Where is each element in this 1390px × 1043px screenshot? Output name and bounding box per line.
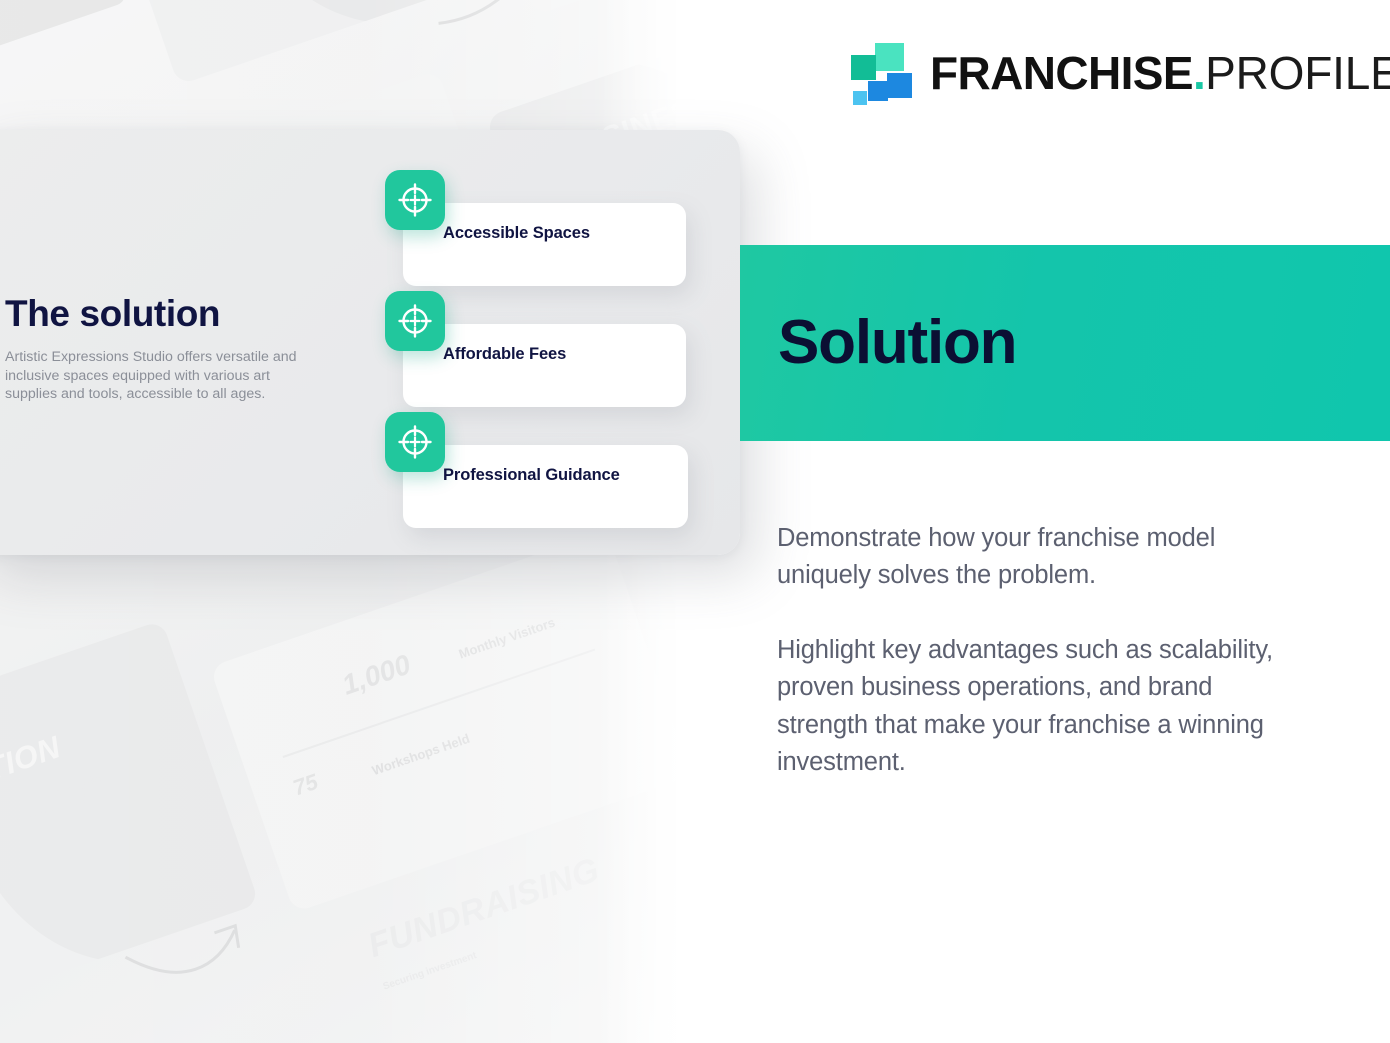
- feature-label: Professional Guidance: [443, 466, 620, 485]
- body-paragraph-1: Demonstrate how your franchise model uni…: [777, 520, 1307, 595]
- feature-label: Affordable Fees: [443, 345, 566, 364]
- logo-word-franchise: FRANCHISE: [930, 47, 1193, 99]
- feature-card: [403, 203, 686, 286]
- five-squares-logo-mark: [851, 43, 913, 103]
- feature-card: [403, 445, 688, 528]
- curved-arrow-icon: [418, 0, 564, 48]
- crosshair-target-icon: [385, 291, 445, 351]
- crosshair-target-icon: [385, 412, 445, 472]
- body-paragraph-2: Highlight key advantages such as scalabi…: [777, 632, 1307, 782]
- slide-canvas: spaces in urban and suburban areas, repr…: [0, 0, 1390, 1043]
- logo-wordmark: FRANCHISE.PROFILES: [930, 50, 1390, 96]
- crosshair-target-icon: [385, 170, 445, 230]
- slide-preview-card[interactable]: The solution Artistic Expressions Studio…: [0, 130, 740, 555]
- collage-slide: 1,000 Monthly Visitors 75 Workshops Held: [210, 530, 676, 913]
- section-title-banner: Solution: [740, 245, 1390, 441]
- logo-word-profiles: PROFILES: [1205, 47, 1390, 99]
- collage-bar: [0, 0, 128, 76]
- franchise-profiles-logo[interactable]: FRANCHISE.PROFILES: [851, 42, 1390, 104]
- body-copy: Demonstrate how your franchise model uni…: [777, 520, 1307, 782]
- feature-card: [403, 324, 686, 407]
- slide-preview-heading: The solution: [5, 293, 220, 335]
- feature-label: Accessible Spaces: [443, 224, 590, 243]
- slide-preview-subtext: Artistic Expressions Studio offers versa…: [5, 348, 325, 404]
- logo-word-dot: .: [1193, 47, 1205, 99]
- page-title: Solution: [778, 312, 1016, 374]
